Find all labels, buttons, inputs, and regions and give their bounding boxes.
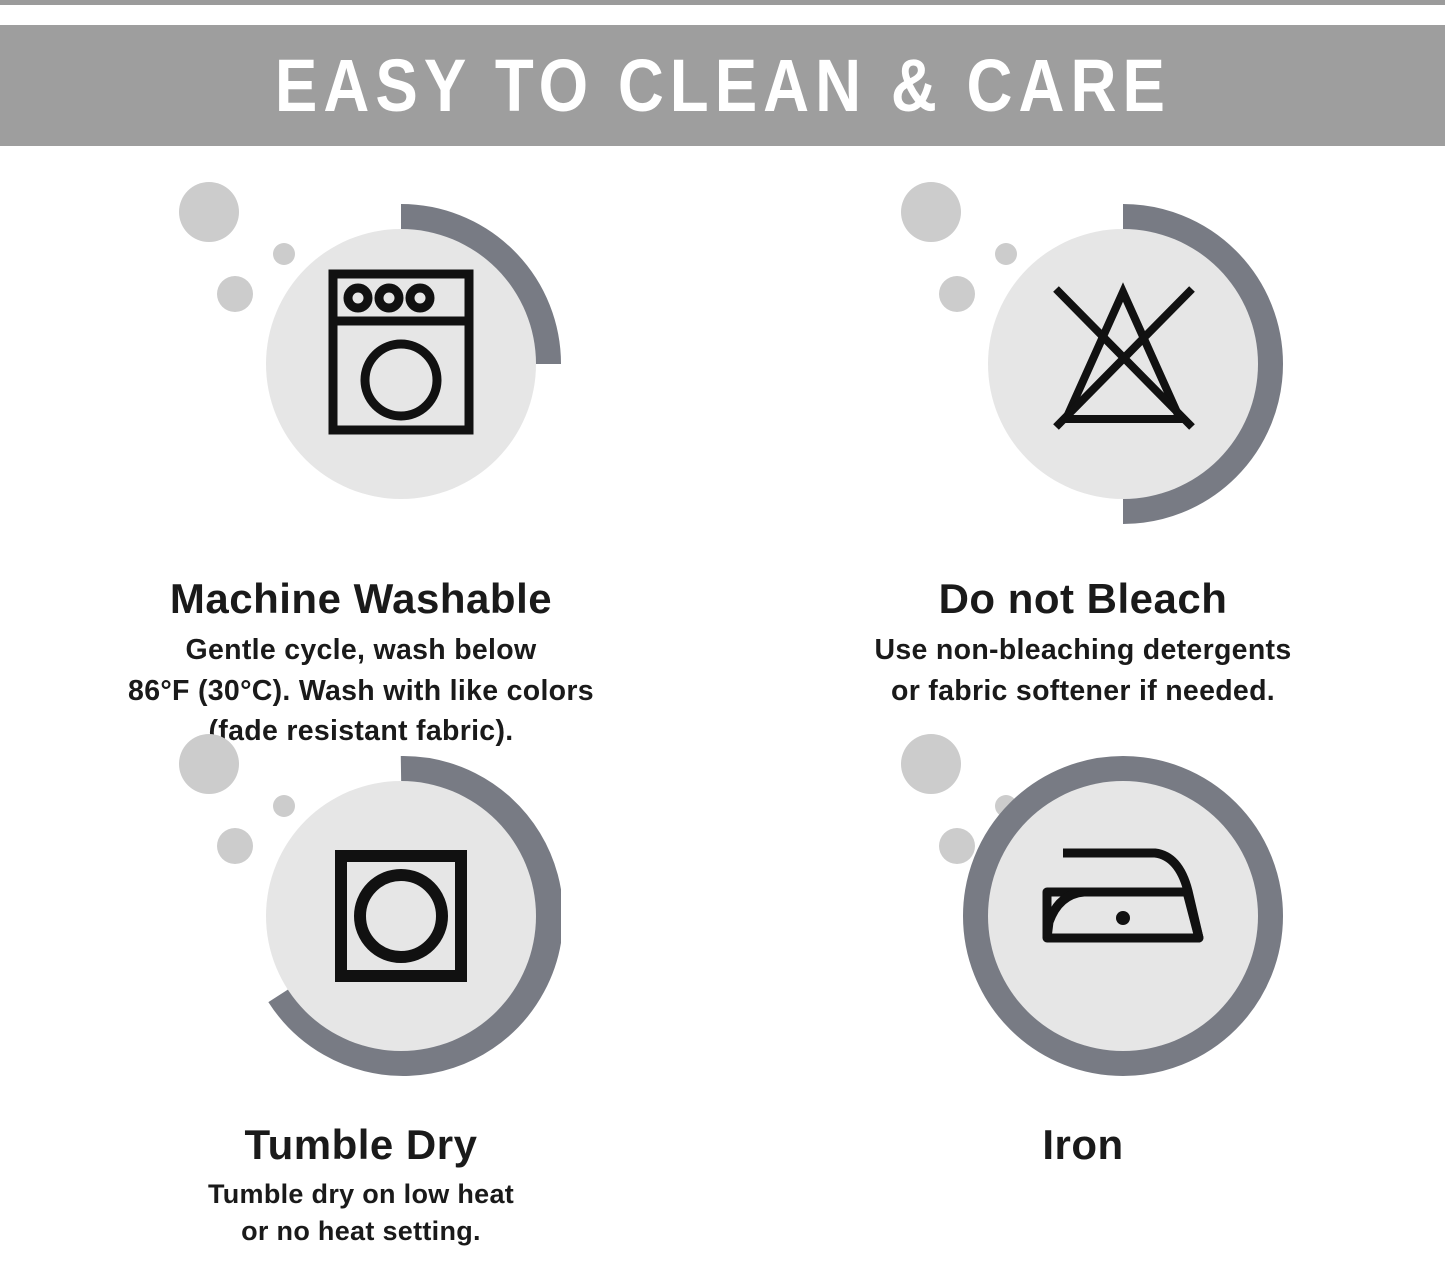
washing-machine-badge: [161, 164, 561, 564]
bubble-large-icon: [179, 182, 239, 242]
care-items-grid: Machine Washable Gentle cycle, wash belo…: [0, 146, 1445, 1263]
do-not-bleach-badge: [883, 164, 1283, 564]
bubble-large-icon: [179, 734, 239, 794]
bubble-medium-icon: [217, 828, 253, 864]
top-divider-rule: [0, 0, 1445, 5]
iron-badge: [883, 716, 1283, 1116]
care-item-iron: Iron: [722, 706, 1444, 1176]
care-item-title: Iron: [742, 1122, 1424, 1168]
bubble-small-icon: [273, 243, 295, 265]
care-item-do-not-bleach: Do not Bleach Use non-bleaching detergen…: [722, 146, 1444, 711]
care-item-machine-washable: Machine Washable Gentle cycle, wash belo…: [0, 146, 722, 752]
care-item-title: Do not Bleach: [742, 576, 1424, 622]
bubble-medium-icon: [939, 828, 975, 864]
bubble-medium-icon: [217, 276, 253, 312]
care-item-labels: Iron: [722, 1122, 1444, 1168]
bubble-medium-icon: [939, 276, 975, 312]
care-item-tumble-dry: Tumble Dry Tumble dry on low heat or no …: [0, 706, 722, 1251]
header-banner: EASY TO CLEAN & CARE: [0, 25, 1445, 146]
care-item-description: Use non-bleaching detergents or fabric s…: [742, 630, 1424, 711]
care-item-labels: Tumble Dry Tumble dry on low heat or no …: [0, 1122, 722, 1251]
bubble-large-icon: [901, 734, 961, 794]
care-item-labels: Do not Bleach Use non-bleaching detergen…: [722, 576, 1444, 711]
care-instructions-infographic: EASY TO CLEAN & CARE: [0, 0, 1445, 1263]
page-title: EASY TO CLEAN & CARE: [275, 49, 1171, 123]
care-item-description: Tumble dry on low heat or no heat settin…: [20, 1176, 702, 1251]
tumble-dry-badge: [161, 716, 561, 1116]
bubble-large-icon: [901, 182, 961, 242]
bubble-small-icon: [273, 795, 295, 817]
icon-disc: [266, 781, 536, 1051]
care-item-title: Tumble Dry: [20, 1122, 702, 1168]
bubble-small-icon: [995, 243, 1017, 265]
care-item-title: Machine Washable: [20, 576, 702, 622]
